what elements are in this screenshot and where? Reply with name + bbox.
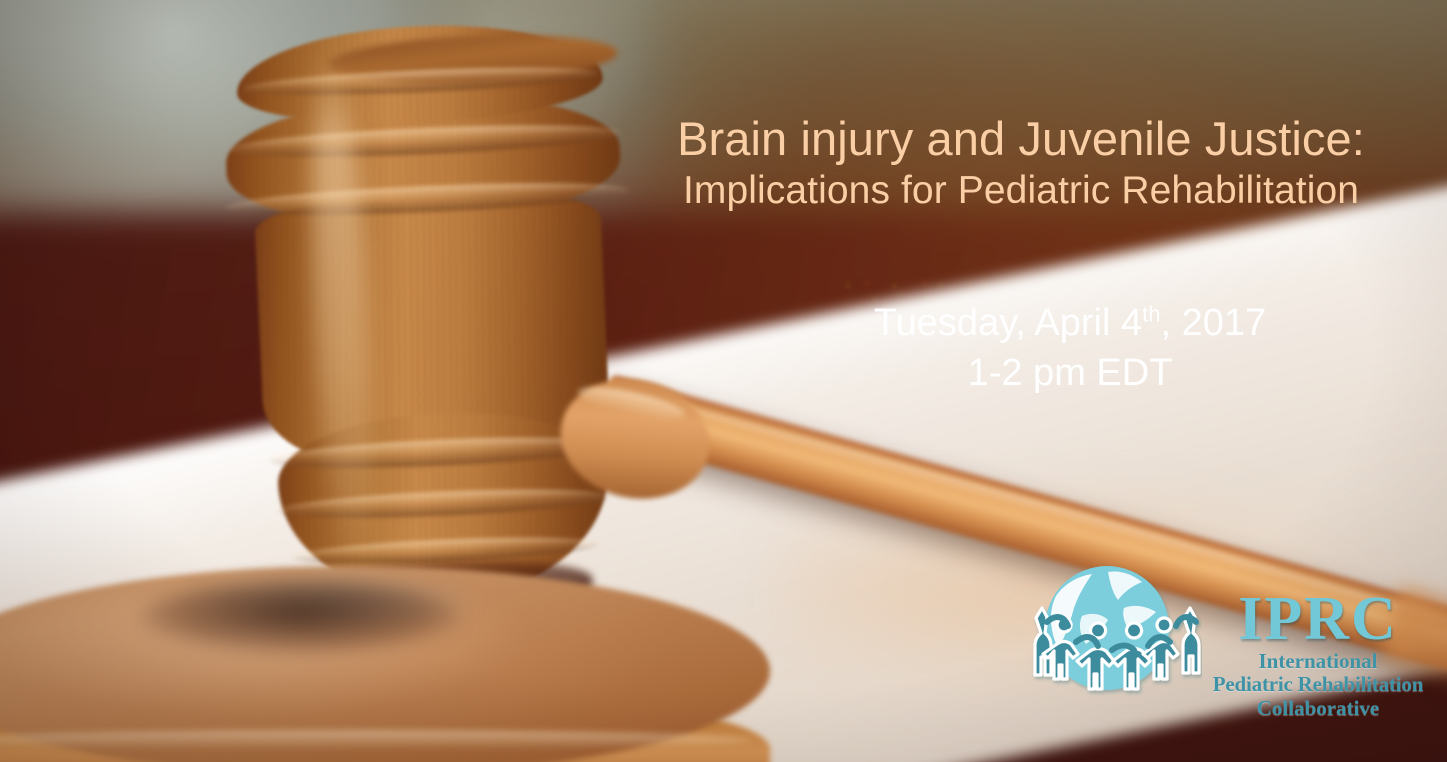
gavel-head-cap-top bbox=[327, 30, 619, 89]
iprc-logo: IPRC International Pediatric Rehabilitat… bbox=[1012, 556, 1432, 756]
gavel-head-ring-4 bbox=[269, 432, 614, 473]
event-date-prefix: Tuesday, April 4 bbox=[874, 302, 1142, 344]
gavel-collar-highlight bbox=[575, 381, 687, 425]
sound-block-contact-shadow bbox=[140, 580, 460, 654]
event-date-ordinal: th bbox=[1142, 301, 1160, 326]
backdrop-warm-brown-blur bbox=[666, 0, 1447, 564]
gavel-head-underside-shadow bbox=[302, 555, 595, 646]
event-time: 1-2 pm EDT bbox=[790, 348, 1350, 398]
gavel-head bbox=[182, 0, 680, 680]
iprc-acronym: IPRC bbox=[1202, 590, 1434, 650]
gavel-collar bbox=[549, 366, 720, 513]
sound-block-top bbox=[0, 566, 770, 762]
gavel-head-ring-2 bbox=[229, 120, 622, 163]
sound-block-rim-highlight bbox=[0, 730, 752, 750]
schedule-block: Tuesday, April 4th, 2017 1-2 pm EDT bbox=[790, 298, 1350, 398]
iprc-wordmark: IPRC International Pediatric Rehabilitat… bbox=[1202, 590, 1434, 720]
gavel-head-ring-1 bbox=[242, 62, 599, 100]
gavel-head-ring-5 bbox=[277, 484, 610, 522]
sound-block-side bbox=[0, 688, 770, 762]
gavel-head-cap bbox=[234, 18, 604, 130]
event-date: Tuesday, April 4th, 2017 bbox=[790, 298, 1350, 348]
title-line-1: Brain injury and Juvenile Justice: bbox=[616, 112, 1426, 167]
iprc-tagline-line-3: Collaborative bbox=[1202, 697, 1434, 721]
gavel-head-foot bbox=[275, 406, 613, 606]
sound-block-reflection bbox=[180, 572, 480, 632]
gavel-head-specular-highlight bbox=[303, 53, 378, 575]
iprc-tagline-line-2: Pediatric Rehabilitation bbox=[1202, 673, 1434, 697]
title-line-2: Implications for Pediatric Rehabilitatio… bbox=[616, 167, 1426, 216]
gavel-head-ring-6 bbox=[291, 533, 600, 568]
gavel-head-bulge bbox=[224, 88, 623, 233]
gavel-head-ring-3 bbox=[223, 177, 630, 221]
event-date-suffix: , 2017 bbox=[1160, 302, 1266, 344]
page-title: Brain injury and Juvenile Justice: Impli… bbox=[616, 112, 1426, 216]
webinar-promo-slide: Brain injury and Juvenile Justice: Impli… bbox=[0, 0, 1447, 762]
iprc-tagline-line-1: International bbox=[1202, 650, 1434, 674]
gavel-head-barrel bbox=[254, 192, 611, 467]
globe-people-circle-icon bbox=[1012, 556, 1202, 706]
gavel-sound-block bbox=[0, 538, 810, 762]
